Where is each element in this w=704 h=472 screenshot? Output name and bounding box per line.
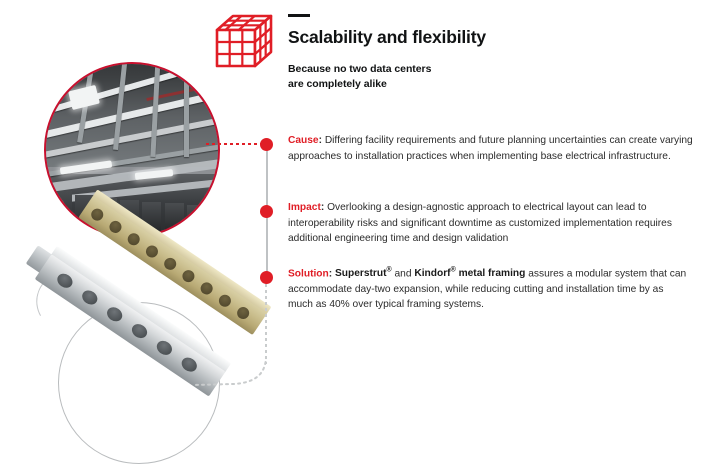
strut-hole xyxy=(235,305,252,322)
strut-hole xyxy=(162,256,179,273)
strut-hole xyxy=(154,338,175,358)
server-rack xyxy=(165,203,184,236)
bullet-dot-impact xyxy=(260,205,273,218)
strut-hole xyxy=(198,280,215,297)
strut-hole xyxy=(125,231,142,248)
server-rack xyxy=(53,191,72,236)
server-rack xyxy=(187,205,206,236)
brand-kindorf: Kindorf® metal framing xyxy=(414,268,525,279)
strut-hole xyxy=(129,321,150,341)
point-label-impact: Impact: xyxy=(288,202,324,213)
conjunction: and xyxy=(392,268,415,279)
infographic-stage: Scalability and flexibility Because no t… xyxy=(0,0,704,472)
cube-grid-icon xyxy=(213,12,275,70)
content-column: Scalability and flexibility Because no t… xyxy=(288,0,700,92)
point-label-solution: Solution: xyxy=(288,268,332,279)
connector-dotted-line-gray xyxy=(265,284,267,364)
strut-hole xyxy=(104,304,125,324)
title-rule xyxy=(288,14,310,17)
point-text-cause: Differing facility requirements and futu… xyxy=(288,135,693,162)
point-cause: Cause: Differing facility requirements a… xyxy=(288,133,696,164)
bullet-dot-cause xyxy=(260,138,273,151)
point-impact: Impact: Overlooking a design-agnostic ap… xyxy=(288,200,700,247)
subtitle-line-2: are completely alike xyxy=(288,78,387,90)
strut-hole xyxy=(80,288,101,308)
data-center-ceiling-photo xyxy=(44,62,220,238)
connector-dotted-line-red xyxy=(206,143,262,145)
photo-scene xyxy=(46,64,218,236)
brand-superstrut: Superstrut® xyxy=(335,268,392,279)
ceiling-strut xyxy=(184,62,189,157)
strut-hole xyxy=(89,206,106,223)
page-title: Scalability and flexibility xyxy=(288,27,700,48)
connector-dotted-curve xyxy=(193,356,267,386)
point-label-cause: Cause: xyxy=(288,135,322,146)
strut-hole xyxy=(144,243,161,260)
point-solution: Solution: Superstrut® and Kindorf® metal… xyxy=(288,266,690,313)
strut-hole xyxy=(55,271,76,291)
strut-hole xyxy=(217,292,234,309)
subtitle-line-1: Because no two data centers xyxy=(288,63,431,75)
bullet-dot-solution xyxy=(260,271,273,284)
subtitle: Because no two data centers are complete… xyxy=(288,62,700,92)
strut-hole xyxy=(107,219,124,236)
strut-hole xyxy=(180,268,197,285)
point-text-impact: Overlooking a design-agnostic approach t… xyxy=(288,202,672,244)
